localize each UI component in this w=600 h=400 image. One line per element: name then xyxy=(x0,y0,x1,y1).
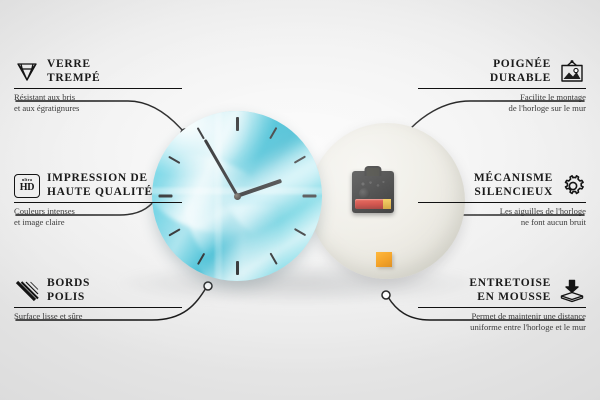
battery-terminal xyxy=(383,199,391,209)
feature-divider xyxy=(418,202,586,203)
feature-title: ENTRETOISE EN MOUSSE xyxy=(469,277,551,304)
feature-divider xyxy=(14,202,182,203)
clock-tick xyxy=(269,253,278,265)
feature-header: MÉCANISME SILENCIEUX xyxy=(418,172,586,199)
feature-title: BORDS POLIS xyxy=(47,277,90,304)
battery xyxy=(355,199,391,209)
product-feature-infographic: VERRE TREMPÉ Résistant aux bris et aux é… xyxy=(0,0,600,400)
clock-tick xyxy=(236,261,239,275)
feature-title: VERRE TREMPÉ xyxy=(47,58,100,85)
ultra-hd-large-label: HD xyxy=(20,183,35,193)
feature-divider xyxy=(14,88,182,89)
feature-title: MÉCANISME SILENCIEUX xyxy=(474,172,553,199)
feature-verre-trempe: VERRE TREMPÉ Résistant aux bris et aux é… xyxy=(14,58,182,114)
feature-divider xyxy=(14,307,182,308)
feature-title: IMPRESSION DE HAUTE QUALITÉ xyxy=(47,172,153,199)
clock-tick xyxy=(294,228,306,237)
hanging-picture-frame-icon xyxy=(558,60,586,84)
feature-header: ENTRETOISE EN MOUSSE xyxy=(418,277,586,304)
feature-title: POIGNÉE DURABLE xyxy=(490,58,551,85)
feature-mecanisme-silencieux: MÉCANISME SILENCIEUX Les aiguilles de l'… xyxy=(418,172,586,228)
feature-entretoise-en-mousse: ENTRETOISE EN MOUSSE Permet de maintenir… xyxy=(418,277,586,333)
arrow-onto-pad-icon xyxy=(558,279,586,303)
clock-tick xyxy=(294,155,306,164)
feature-description: Facilite le montage de l'horloge sur le … xyxy=(418,92,586,113)
connector-dot-bords xyxy=(204,282,212,290)
connector-dot-entretoise xyxy=(382,291,390,299)
clock-tick xyxy=(196,127,205,139)
gear-icon xyxy=(560,174,586,198)
feature-header: BORDS POLIS xyxy=(14,277,182,304)
quartz-movement xyxy=(352,171,394,213)
clock-tick xyxy=(196,253,205,265)
clock-tick xyxy=(168,155,180,164)
feature-divider xyxy=(418,88,586,89)
feature-description: Surface lisse et sûre xyxy=(14,311,182,322)
feature-poignee-durable: POIGNÉE DURABLE Facilite le montage de l… xyxy=(418,58,586,114)
hanging-bracket xyxy=(365,166,382,176)
feature-divider xyxy=(418,307,586,308)
clock-tick xyxy=(269,127,278,139)
clock-tick xyxy=(302,195,316,198)
feature-bords-polis: BORDS POLIS Surface lisse et sûre xyxy=(14,277,182,322)
foam-spacer-pad xyxy=(376,252,392,267)
clock-tick xyxy=(168,228,180,237)
diamond-icon xyxy=(14,61,40,83)
diagonal-stripes-icon xyxy=(14,280,40,302)
clock-tick xyxy=(236,117,239,131)
feature-header: POIGNÉE DURABLE xyxy=(418,58,586,85)
ultra-hd-badge-icon: ultra HD xyxy=(14,174,40,198)
feature-header: VERRE TREMPÉ xyxy=(14,58,182,85)
movement-knob xyxy=(359,188,370,199)
feature-description: Couleurs intenses et image claire xyxy=(14,206,182,227)
feature-impression-haute-qualite: ultra HD IMPRESSION DE HAUTE QUALITÉ Cou… xyxy=(14,172,182,228)
feature-header: ultra HD IMPRESSION DE HAUTE QUALITÉ xyxy=(14,172,182,199)
feature-description: Les aiguilles de l'horloge ne font aucun… xyxy=(418,206,586,227)
feature-description: Permet de maintenir une distance uniform… xyxy=(418,311,586,332)
hands-center-cap xyxy=(234,193,241,200)
feature-description: Résistant aux bris et aux égratignures xyxy=(14,92,182,113)
